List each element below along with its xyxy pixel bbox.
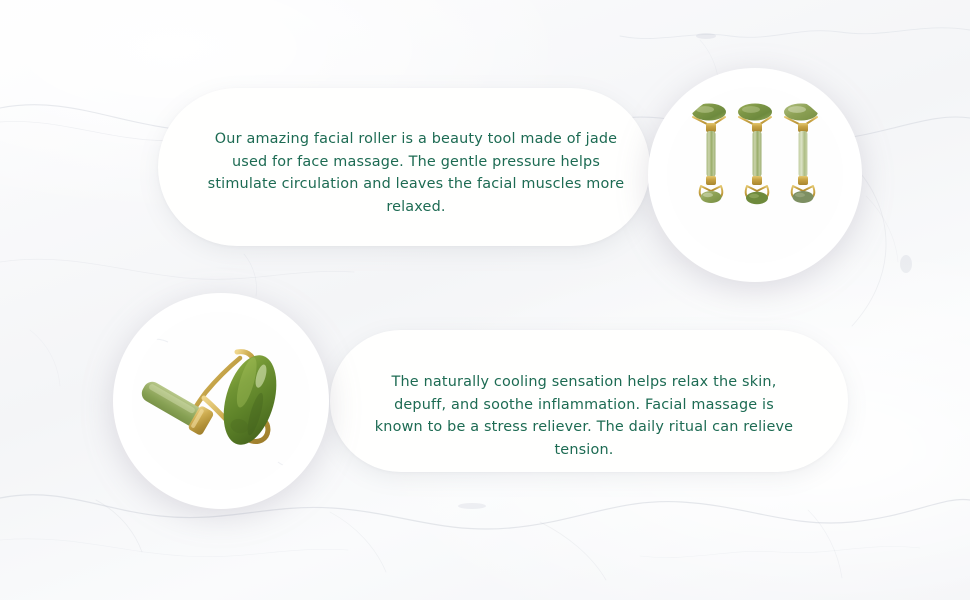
jade-roller-trio-photo	[667, 87, 843, 263]
jade-roller-single-photo	[132, 312, 310, 490]
bottom-description-text: The naturally cooling sensation helps re…	[368, 371, 800, 461]
jade-roller-trio-medallion	[648, 68, 862, 282]
jade-roller-single-medallion	[113, 293, 329, 509]
product-feature-banner: Our amazing facial roller is a beauty to…	[0, 0, 970, 600]
top-description-text: Our amazing facial roller is a beauty to…	[200, 128, 632, 218]
